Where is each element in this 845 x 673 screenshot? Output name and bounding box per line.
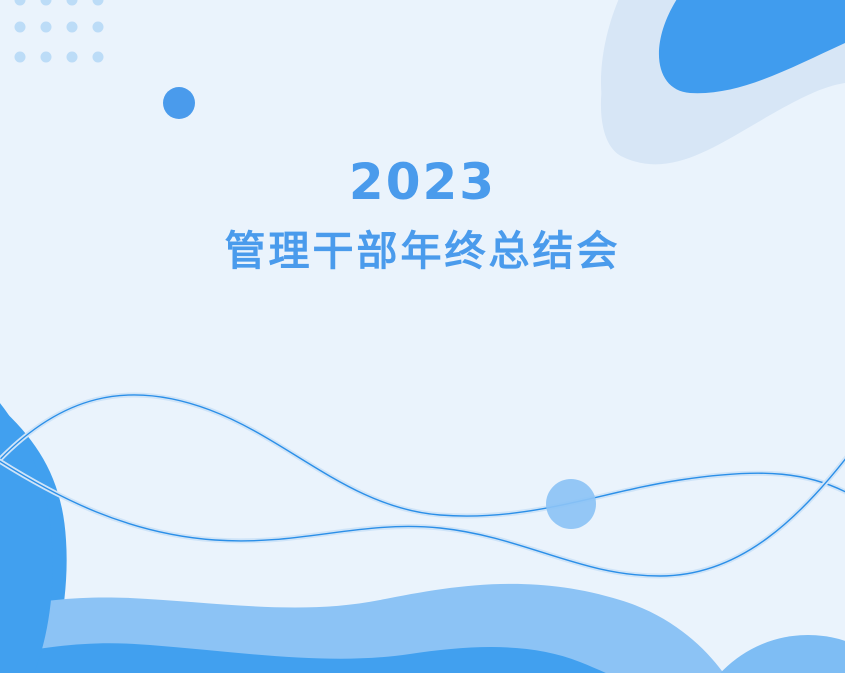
- dot-grid-dot: [15, 22, 26, 33]
- dot-grid-dot: [41, 52, 52, 63]
- presentation-slide: 2023 管理干部年终总结会: [0, 0, 845, 673]
- dot-grid-dot: [67, 22, 78, 33]
- dot-grid-dot: [67, 52, 78, 63]
- page-subtitle: 管理干部年终总结会: [0, 227, 845, 276]
- accent-circle-top-left: [163, 87, 195, 119]
- dot-grid-dot: [41, 22, 52, 33]
- dot-grid-dot: [93, 22, 104, 33]
- decorative-background: [0, 0, 845, 673]
- dot-grid-dot: [15, 52, 26, 63]
- title-block: 2023 管理干部年终总结会: [0, 155, 845, 276]
- page-title-year: 2023: [0, 155, 845, 209]
- dot-grid-dot: [93, 52, 104, 63]
- accent-circle-middle: [546, 479, 596, 529]
